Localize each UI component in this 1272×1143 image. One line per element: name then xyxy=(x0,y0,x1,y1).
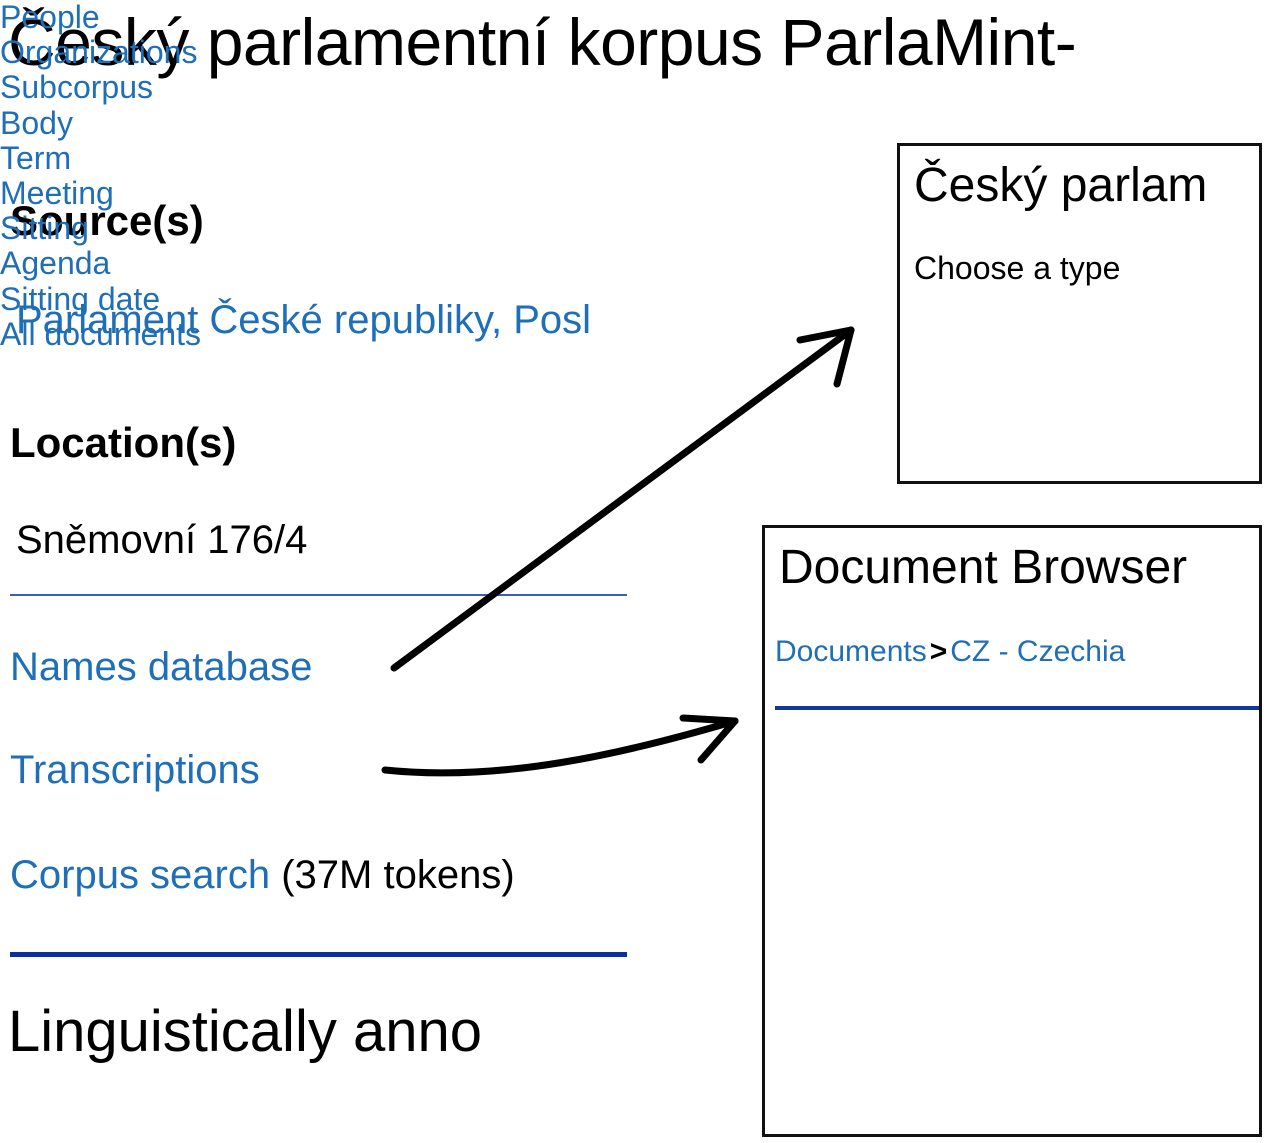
arrow-transcriptions-to-document-browser xyxy=(385,718,735,773)
breadcrumb: Documents>CZ - Czechia xyxy=(765,595,1259,668)
facet-sitting: Sitting xyxy=(0,210,89,246)
facet-body: Body xyxy=(0,105,73,141)
breadcrumb-separator: > xyxy=(927,635,951,668)
breadcrumb-item-documents[interactable]: Documents xyxy=(775,635,927,668)
list-item[interactable]: Sitting date xyxy=(0,282,1272,317)
list-item[interactable]: Sitting xyxy=(0,211,1272,246)
document-browser-facet-list: Subcorpus Body Term Meeting Sitting Agen… xyxy=(0,70,1272,352)
link-transcriptions[interactable]: Transcriptions xyxy=(10,748,260,792)
names-type-people: People xyxy=(0,0,100,35)
link-names-database[interactable]: Names database xyxy=(10,645,312,689)
document-browser-divider xyxy=(775,706,1262,710)
divider-thick xyxy=(10,952,627,957)
list-item[interactable]: Subcorpus xyxy=(0,70,1272,105)
facet-term: Term xyxy=(0,140,71,176)
names-type-organizations: Organizations xyxy=(0,34,197,70)
facet-subcorpus: Subcorpus xyxy=(0,69,153,105)
facet-meeting: Meeting xyxy=(0,175,114,211)
facet-sitting-date: Sitting date xyxy=(0,281,160,317)
list-item[interactable]: Body xyxy=(0,106,1272,141)
facet-all-documents: All documents xyxy=(0,316,201,352)
document-browser-panel: Document Browser Documents>CZ - Czechia xyxy=(762,525,1262,1137)
link-names-database-label: Names database xyxy=(10,645,312,689)
section-heading-linguistically-annotated: Linguistically anno xyxy=(8,1000,482,1064)
list-item[interactable]: People xyxy=(0,0,1272,35)
list-item[interactable]: Agenda xyxy=(0,246,1272,281)
list-item[interactable]: Term xyxy=(0,141,1272,176)
names-database-type-list: People Organizations xyxy=(0,0,1272,70)
link-corpus-search-label: Corpus search xyxy=(10,853,270,897)
list-item[interactable]: Meeting xyxy=(0,176,1272,211)
document-browser-panel-title: Document Browser xyxy=(765,528,1259,595)
list-item[interactable]: Organizations xyxy=(0,35,1272,70)
breadcrumb-item-cz-czechia[interactable]: CZ - Czechia xyxy=(950,635,1125,668)
divider-thin xyxy=(10,594,627,596)
location-value: Sněmovní 176/4 xyxy=(0,492,656,562)
corpus-search-token-count: (37M tokens) xyxy=(270,853,515,897)
link-corpus-search[interactable]: Corpus search (37M tokens) xyxy=(10,853,515,897)
list-item[interactable]: All documents xyxy=(0,317,1272,352)
facet-agenda: Agenda xyxy=(0,245,110,281)
link-transcriptions-label: Transcriptions xyxy=(10,748,260,792)
section-heading-locations: Location(s) xyxy=(0,390,236,466)
